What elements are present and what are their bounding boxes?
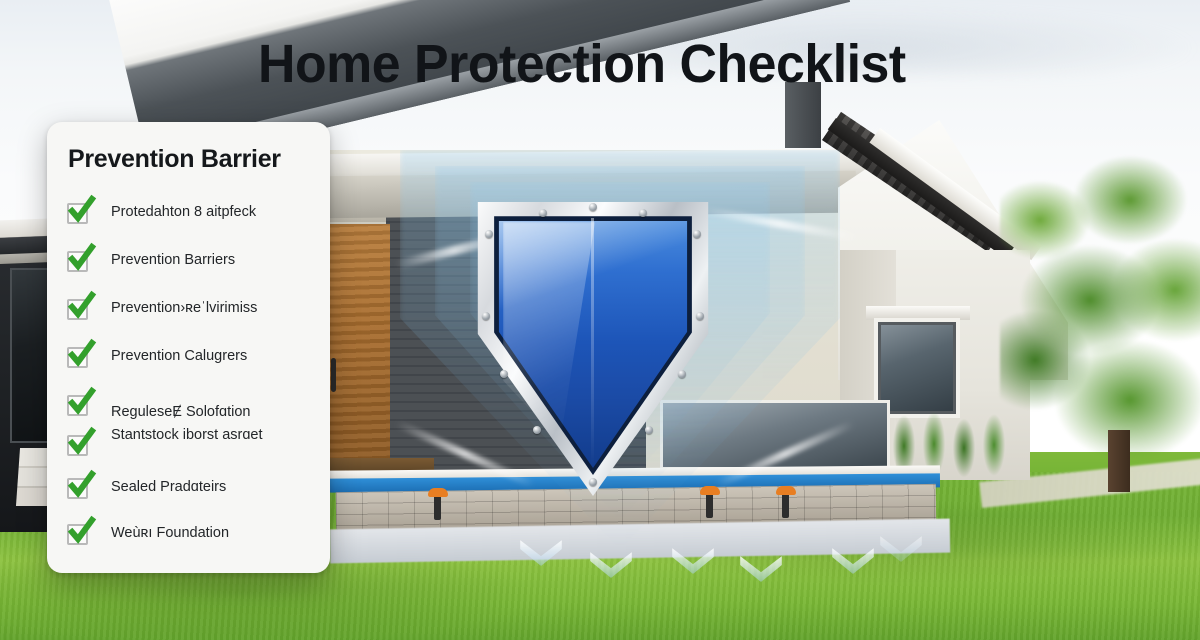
shield-rivet	[485, 230, 493, 238]
list-item-label: ReguleseɆ Solofɑtion	[111, 404, 250, 420]
checklist-items: Protedahton 8 aitpfeck Prevention Barrie…	[67, 196, 322, 562]
shield-rivet	[645, 426, 653, 434]
ground-stake	[434, 494, 441, 520]
checkbox-icon[interactable]	[67, 524, 88, 545]
card-title: Prevention Barrier	[68, 145, 281, 174]
shield-rivet	[639, 209, 647, 217]
checkbox-icon[interactable]	[67, 395, 88, 416]
door-handle	[331, 358, 336, 392]
list-item-label: Protedahton 8 aitpfeck	[111, 204, 256, 220]
shield-rivet	[589, 478, 597, 486]
shield-rivet	[589, 203, 597, 211]
list-item[interactable]: Prevention›ʀeˈlvirimiss	[67, 292, 322, 340]
list-item-label: Prevention Calugrers	[111, 348, 247, 364]
checkbox-icon[interactable]	[67, 203, 88, 224]
list-item[interactable]: Stantstock iborst asrɑet	[67, 425, 322, 462]
shield-rivet	[678, 370, 686, 378]
list-item[interactable]: Prevention Barriers	[67, 244, 322, 292]
shield-rivet	[693, 230, 701, 238]
shield-rivet	[482, 312, 490, 320]
list-item-label: Stantstock iborst asrɑet	[111, 427, 263, 443]
ground-stake-cap	[776, 486, 796, 495]
checkbox-icon[interactable]	[67, 347, 88, 368]
shield-rivet	[500, 370, 508, 378]
ground-stake	[782, 492, 789, 518]
shield-center-ridge	[591, 218, 594, 466]
shield-rivet	[533, 426, 541, 434]
tree	[1000, 150, 1200, 480]
list-item[interactable]: Sealed Pradɑteirs	[67, 462, 322, 514]
list-item[interactable]: Protedahton 8 aitpfeck	[67, 196, 322, 244]
tree-canopy	[1000, 150, 1200, 480]
ground-stake-cap	[428, 488, 448, 497]
tree-trunk	[1108, 430, 1130, 492]
list-item-label: Sealed Pradɑteirs	[111, 479, 226, 495]
shield-rivet	[539, 209, 547, 217]
protection-shield	[473, 196, 713, 496]
list-item-label: Prevention Barriers	[111, 252, 235, 268]
list-item[interactable]: Prevention Calugrers	[67, 340, 322, 388]
checkbox-icon[interactable]	[67, 435, 88, 456]
page-title: Home Protection Checklist	[258, 31, 930, 97]
checkbox-icon[interactable]	[67, 251, 88, 272]
list-item-label: Weùʀı Foundation	[111, 525, 229, 541]
list-item[interactable]: Weùʀı Foundation	[67, 514, 322, 562]
checkbox-icon[interactable]	[67, 299, 88, 320]
shield-rivet	[696, 312, 704, 320]
screenshot-stage: Home Protection Checklist Prevention Bar…	[0, 0, 1200, 640]
list-item[interactable]: ReguleseɆ Solofɑtion	[67, 388, 322, 425]
checkbox-icon[interactable]	[67, 478, 88, 499]
list-item-label: Prevention›ʀeˈlvirimiss	[111, 300, 257, 316]
prevention-barrier-card: Prevention Barrier Protedahton 8 aitpfec…	[47, 122, 330, 573]
